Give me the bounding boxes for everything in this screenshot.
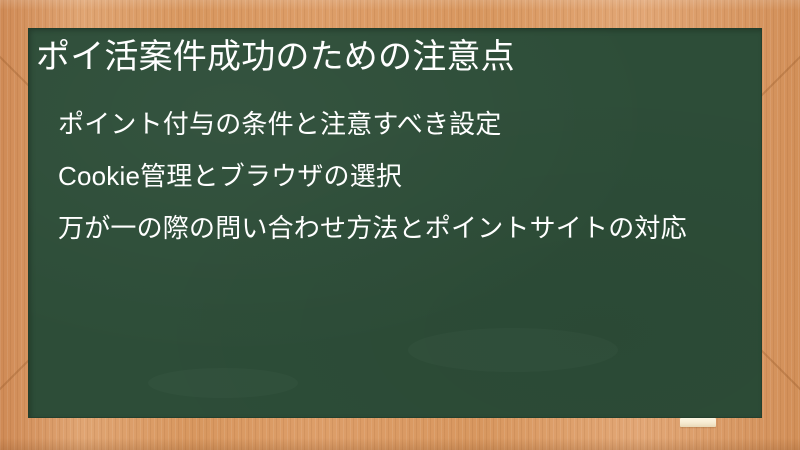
chalk-dust-smudge xyxy=(148,368,298,398)
page-title: ポイ活案件成功のための注意点 xyxy=(36,36,736,78)
chalk-stick-icon xyxy=(680,418,716,427)
chalkboard-surface: ポイ活案件成功のための注意点 ポイント付与の条件と注意すべき設定 Cookie管… xyxy=(28,28,762,418)
list-item: ポイント付与の条件と注意すべき設定 xyxy=(58,104,738,144)
bullet-list: ポイント付与の条件と注意すべき設定 Cookie管理とブラウザの選択 万が一の際… xyxy=(58,104,738,248)
list-item: Cookie管理とブラウザの選択 xyxy=(58,156,738,196)
list-item: 万が一の際の問い合わせ方法とポイントサイトの対応 xyxy=(58,208,738,248)
frame-top-highlight xyxy=(0,0,800,10)
chalkboard-frame: ポイ活案件成功のための注意点 ポイント付与の条件と注意すべき設定 Cookie管… xyxy=(0,0,800,450)
frame-bottom-shadow xyxy=(0,438,800,450)
chalk-dust-smudge xyxy=(408,328,618,372)
